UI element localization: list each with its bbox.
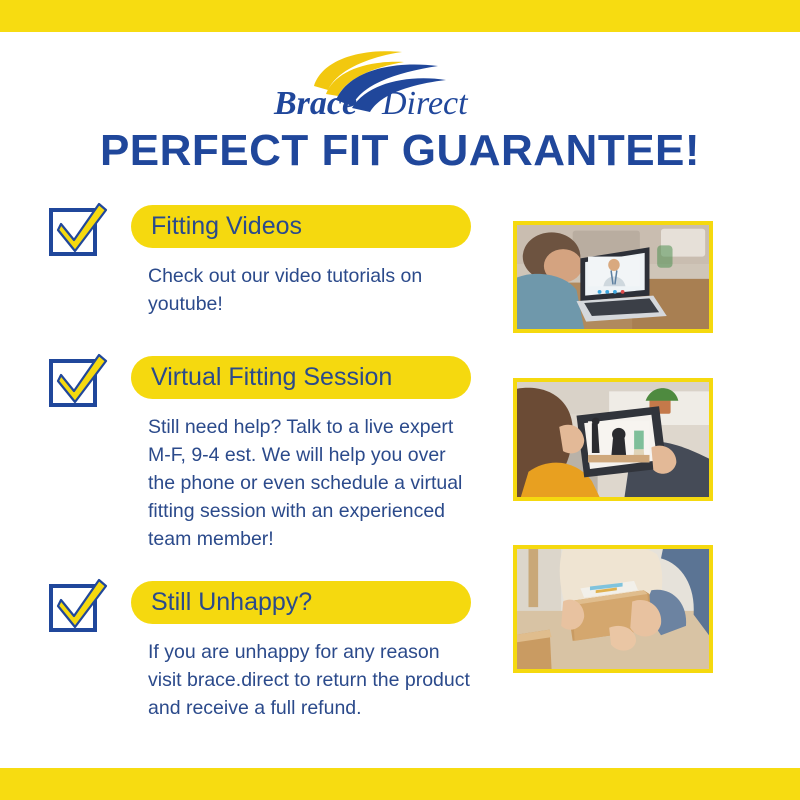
pill-label: Fitting Videos [151, 214, 302, 239]
photo-illustration [517, 382, 709, 497]
bottom-yellow-band [0, 768, 800, 800]
checked-checkbox-icon [47, 576, 109, 638]
photo-man-video-call-with-doctor-on-laptop [513, 221, 713, 333]
photo-woman-holding-tablet-virtual-session [513, 378, 713, 501]
pill-virtual-fitting-session[interactable]: Virtual Fitting Session [131, 356, 471, 399]
photo-hands-exchanging-cardboard-package [513, 545, 713, 673]
pill-label: Still Unhappy? [151, 590, 312, 615]
pill-still-unhappy[interactable]: Still Unhappy? [131, 581, 471, 624]
checked-checkbox-icon [47, 200, 109, 262]
section-body-text: Still need help? Talk to a live expert M… [148, 413, 478, 553]
photo-illustration [517, 225, 709, 329]
logo-wordmark-brace: Brace [273, 85, 357, 118]
checked-checkbox-icon [47, 351, 109, 413]
logo-wordmark-direct: Direct [381, 85, 469, 118]
photo-illustration [517, 549, 709, 669]
pill-label: Virtual Fitting Session [151, 365, 392, 390]
pill-fitting-videos[interactable]: Fitting Videos [131, 205, 471, 248]
top-yellow-band [0, 0, 800, 32]
page-title: PERFECT FIT GUARANTEE! [0, 126, 800, 176]
section-body-text: If you are unhappy for any reason visit … [148, 638, 478, 722]
section-body-text: Check out our video tutorials on youtube… [148, 262, 478, 318]
guarantee-flyer: Brace Direct PERFECT FIT GUARANTEE! Fitt… [0, 0, 800, 800]
swoosh-icon: Brace Direct [270, 46, 530, 118]
brand-logo: Brace Direct [0, 46, 800, 118]
